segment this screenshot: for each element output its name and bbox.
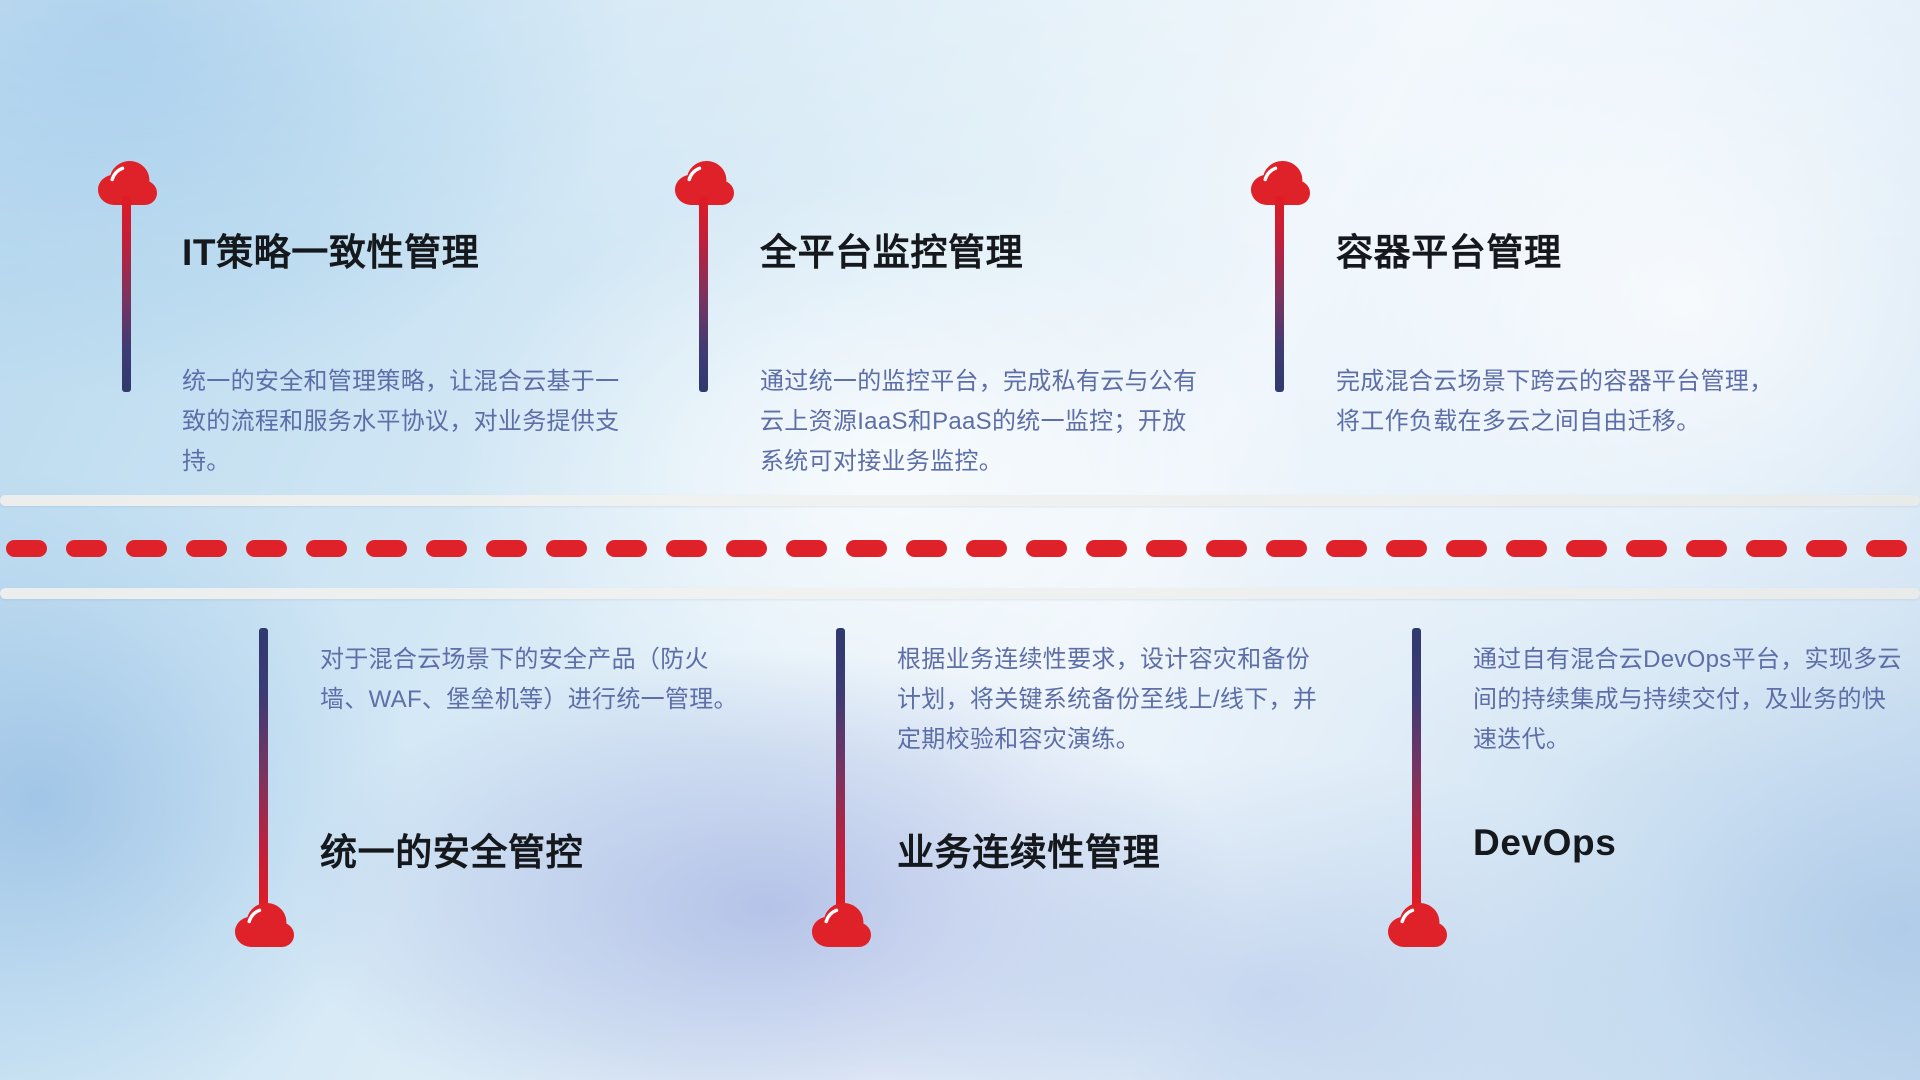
divider-dash xyxy=(1746,540,1787,557)
divider-dash xyxy=(486,540,527,557)
divider-dash xyxy=(666,540,707,557)
divider-dash xyxy=(1086,540,1127,557)
cloud-icon xyxy=(810,900,872,948)
top-card-1-body: 统一的安全和管理策略，让混合云基于一致的流程和服务水平协议，对业务提供支持。 xyxy=(182,362,622,482)
divider-dash xyxy=(6,540,47,557)
divider-dash xyxy=(1806,540,1847,557)
divider-dash xyxy=(786,540,827,557)
divider-dash xyxy=(726,540,767,557)
cloud-icon xyxy=(233,900,295,948)
divider-rail-bottom xyxy=(0,588,1920,599)
bottom-card-1-body: 对于混合云场景下的安全产品（防火墙、WAF、堡垒机等）进行统一管理。 xyxy=(320,640,750,720)
divider-dash xyxy=(1146,540,1187,557)
divider-dash xyxy=(1506,540,1547,557)
bottom-card-2-heading: 业务连续性管理 xyxy=(897,822,1160,876)
divider-dash xyxy=(426,540,467,557)
divider-dash xyxy=(966,540,1007,557)
top-card-2-heading: 全平台监控管理 xyxy=(760,222,1023,276)
divider-dash xyxy=(1266,540,1307,557)
bottom-card-1-icon-wrap xyxy=(233,900,295,948)
bottom-card-2-body: 根据业务连续性要求，设计容灾和备份计划，将关键系统备份至线上/线下，并定期校验和… xyxy=(897,640,1327,760)
divider-dash xyxy=(1866,540,1907,557)
bottom-card-3-heading: DevOps xyxy=(1473,822,1616,864)
top-card-3-stem xyxy=(1275,196,1284,392)
bottom-card-2-icon-wrap xyxy=(810,900,872,948)
divider-dash xyxy=(366,540,407,557)
divider-dash xyxy=(246,540,287,557)
infographic-canvas: IT策略一致性管理 统一的安全和管理策略，让混合云基于一致的流程和服务水平协议，… xyxy=(0,0,1920,1080)
cloud-icon xyxy=(1386,900,1448,948)
divider-dash xyxy=(606,540,647,557)
top-card-2-body: 通过统一的监控平台，完成私有云与公有云上资源IaaS和PaaS的统一监控；开放系… xyxy=(760,362,1200,482)
divider-dash xyxy=(1326,540,1367,557)
bottom-card-3-body: 通过自有混合云DevOps平台，实现多云间的持续集成与持续交付，及业务的快速迭代… xyxy=(1473,640,1903,760)
bottom-card-1-stem xyxy=(259,628,268,908)
divider-dash xyxy=(1626,540,1667,557)
top-card-3-heading: 容器平台管理 xyxy=(1336,222,1562,276)
divider-dash xyxy=(1386,540,1427,557)
divider-dash xyxy=(66,540,107,557)
top-card-2-stem xyxy=(699,196,708,392)
divider-dash xyxy=(306,540,347,557)
divider-dash xyxy=(846,540,887,557)
bottom-card-3-icon-wrap xyxy=(1386,900,1448,948)
divider-dash xyxy=(126,540,167,557)
divider-dash xyxy=(906,540,947,557)
divider-dash xyxy=(1566,540,1607,557)
bottom-card-3-stem xyxy=(1412,628,1421,908)
divider-dash xyxy=(1206,540,1247,557)
top-card-3-body: 完成混合云场景下跨云的容器平台管理，将工作负载在多云之间自由迁移。 xyxy=(1336,362,1776,442)
divider-dash xyxy=(1686,540,1727,557)
top-card-1-stem xyxy=(122,196,131,392)
bottom-card-2-stem xyxy=(836,628,845,908)
top-card-1-heading: IT策略一致性管理 xyxy=(182,222,479,276)
divider-dash xyxy=(186,540,227,557)
divider-dash xyxy=(546,540,587,557)
divider-dashed-line xyxy=(0,540,1920,562)
divider-dash xyxy=(1446,540,1487,557)
bottom-card-1-heading: 统一的安全管控 xyxy=(320,822,583,876)
divider-dash xyxy=(1026,540,1067,557)
divider-rail-top xyxy=(0,495,1920,506)
